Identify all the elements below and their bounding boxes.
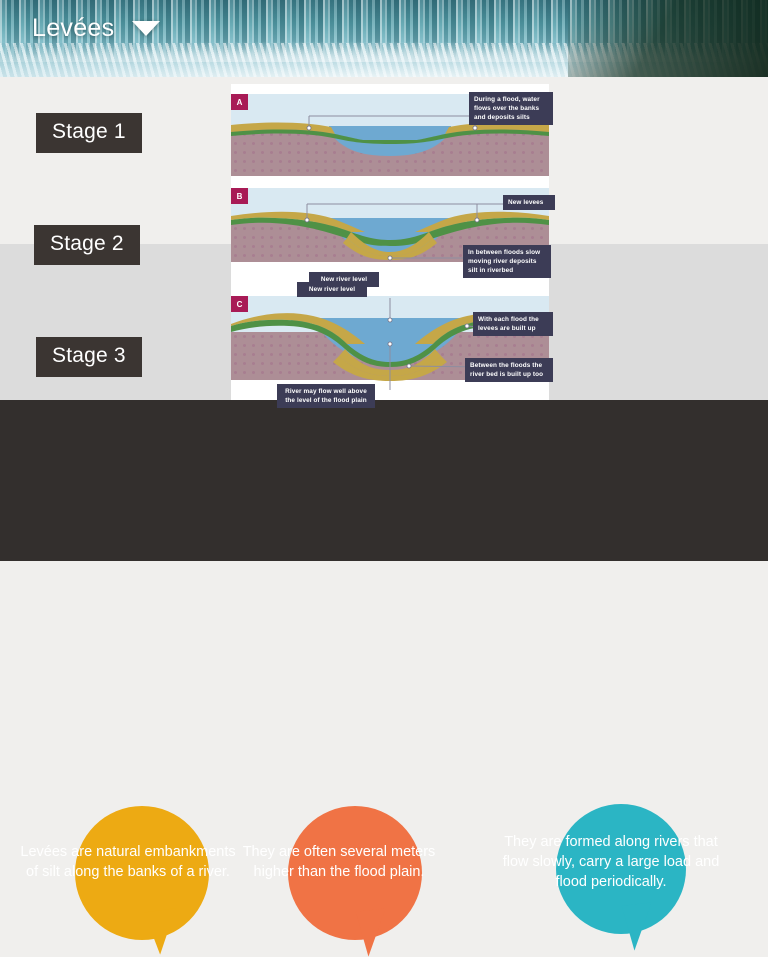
bubble-tail-2 [356,909,391,957]
callout-c-new-river-level: New river level [297,282,367,297]
facts-footer: Levées are natural embankments of silt a… [0,400,768,561]
panel-badge-a: A [231,94,248,110]
fact-text-1: Levées are natural embankments of silt a… [13,842,243,882]
callout-c-river-bed-built-up: Between the floods the river bed is buil… [465,358,553,382]
stage-label-1: Stage 1 [36,113,142,153]
waterfall-rocks [568,0,768,77]
callout-c-flow-above-plain: River may flow well above the level of t… [277,384,375,408]
stage-label-2: Stage 2 [34,225,140,265]
chevron-down-icon[interactable] [132,21,160,36]
panel-badge-c: C [231,296,248,312]
callout-b-silt-riverbed: In between floods slow moving river depo… [463,245,551,278]
callout-b-new-levees: New levees [503,195,555,210]
bubble-tail-1 [144,908,182,956]
page-title-group[interactable]: Levées [32,14,160,43]
fact-text-3: They are formed along rivers that flow s… [496,832,726,892]
diagram-panel-c: C New river level With each flood the le… [231,296,549,392]
levees-page: Levées Stage 1 Stage 2 Stage 3 [0,0,768,561]
page-title: Levées [32,14,114,43]
panel-badge-b: B [231,188,248,204]
hero-banner: Levées [0,0,768,77]
levee-diagram: A During a flood, water flows over the b… [231,84,549,400]
callout-c-levees-built-up: With each flood the levees are built up [473,312,553,336]
diagram-panel-a: A During a flood, water flows over the b… [231,94,549,176]
bubble-tail-3 [622,903,657,952]
fact-text-2: They are often several meters higher tha… [224,842,454,882]
callout-a-flood-deposits: During a flood, water flows over the ban… [469,92,553,125]
stage-label-3: Stage 3 [36,337,142,377]
diagram-panel-b: B New levees In between floods slow movi… [231,188,549,276]
